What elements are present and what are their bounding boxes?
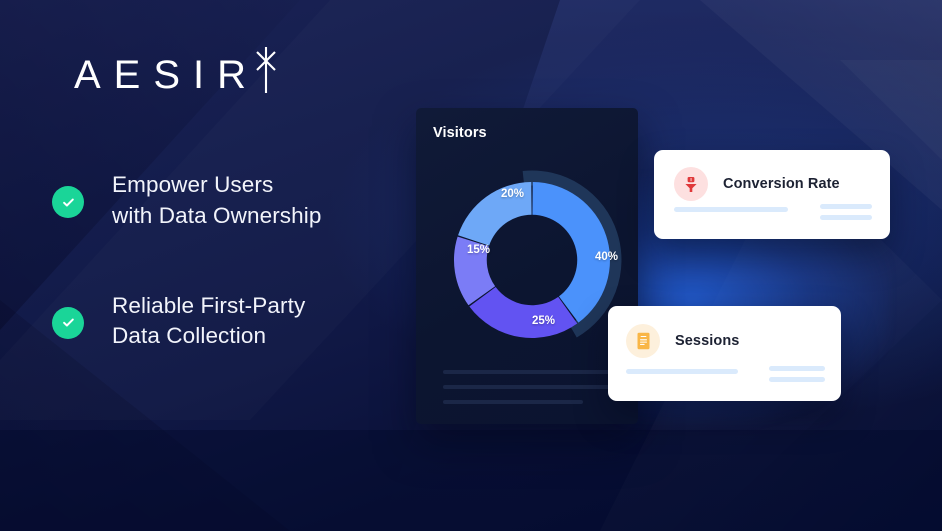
sessions-card[interactable]: Sessions <box>608 306 841 401</box>
skeleton-bar <box>626 369 738 374</box>
check-circle-icon <box>52 307 84 339</box>
feature-line-1: Reliable First-Party <box>112 291 305 322</box>
conversion-rate-card[interactable]: Conversion Rate <box>654 150 890 239</box>
slice-label: 40% <box>595 251 618 263</box>
card-title: Conversion Rate <box>723 176 840 192</box>
aesir-rune-icon <box>253 46 279 94</box>
list-item: Empower Users with Data Ownership <box>52 170 392 232</box>
donut-chart: 40% 25% 15% 20% <box>452 156 612 364</box>
document-list-icon <box>626 324 660 358</box>
feature-line-2: with Data Ownership <box>112 201 322 232</box>
slice-label: 15% <box>467 244 490 256</box>
brand-logo: AESIR <box>74 46 279 95</box>
feature-line-2: Data Collection <box>112 321 305 352</box>
feature-list: Empower Users with Data Ownership Reliab… <box>52 170 392 411</box>
skeleton-bar <box>769 366 825 371</box>
skeleton-bar <box>769 377 825 382</box>
skeleton-placeholder-group <box>626 366 825 384</box>
funnel-icon <box>674 167 708 201</box>
skeleton-bar <box>674 207 788 212</box>
check-circle-icon <box>52 186 84 218</box>
skeleton-placeholder-group <box>674 204 872 222</box>
skeleton-bar <box>443 385 611 389</box>
logo-wordmark: AESIR <box>74 46 259 95</box>
card-header: Sessions <box>608 306 841 358</box>
feature-line-1: Empower Users <box>112 170 322 201</box>
card-header: Conversion Rate <box>654 150 890 201</box>
slice-label: 25% <box>532 315 555 327</box>
slice-label: 20% <box>501 188 524 200</box>
skeleton-bar <box>443 370 611 374</box>
skeleton-placeholder-list <box>443 370 611 415</box>
visitors-card[interactable]: Visitors 40% 25% 15% 20% <box>416 108 638 424</box>
skeleton-bar <box>820 215 872 220</box>
slide-canvas: AESIR Empower Users with Data Ownership <box>0 0 942 531</box>
list-item: Reliable First-Party Data Collection <box>52 291 392 353</box>
feature-text: Reliable First-Party Data Collection <box>112 291 305 353</box>
feature-text: Empower Users with Data Ownership <box>112 170 322 232</box>
skeleton-bar <box>443 400 583 404</box>
skeleton-bar <box>820 204 872 209</box>
card-title: Sessions <box>675 333 739 349</box>
page-title: Visitors <box>433 125 487 141</box>
